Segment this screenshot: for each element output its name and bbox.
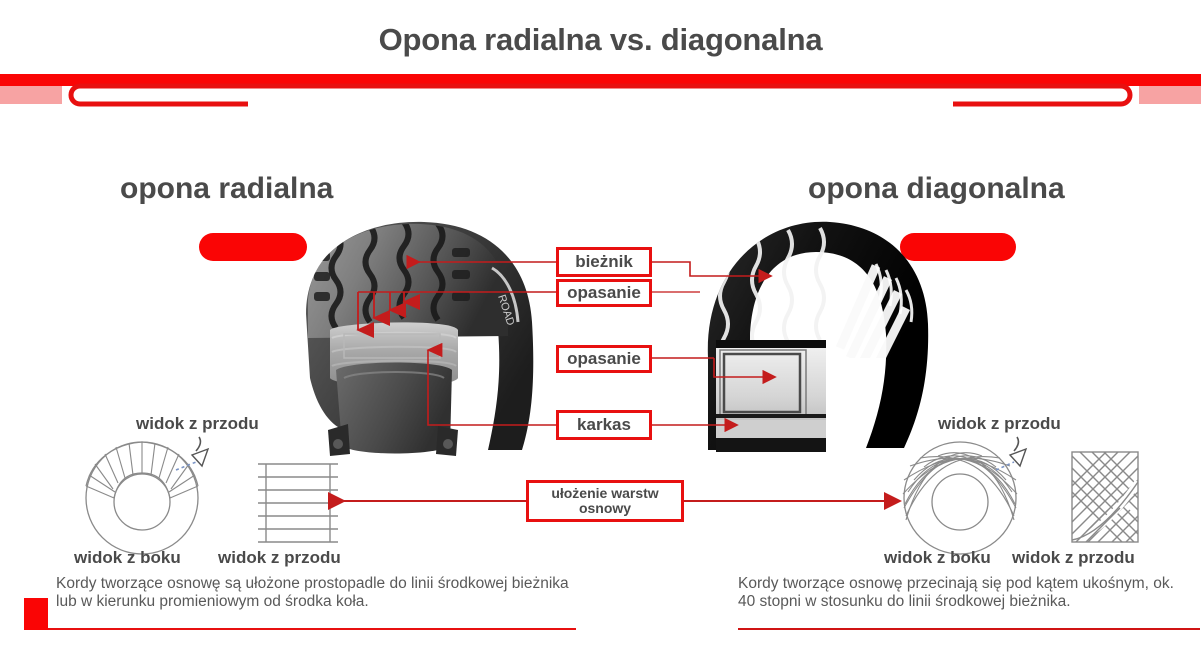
caption-right-side: widok z boku [884,548,991,568]
red-pill-left [199,233,307,261]
bottom-rule-left [24,628,576,630]
diagonal-side-view-diagram [890,440,1030,555]
caption-left-front-top: widok z przodu [136,414,259,434]
radial-side-view-diagram [72,440,212,555]
description-radial: Kordy tworzące osnowę są ułożone prostop… [56,575,576,612]
callout-karkas[interactable]: karkas [556,410,652,440]
radial-tire-illustration: ROAD [292,218,562,460]
bottom-rule-right [738,628,1200,630]
description-diagonal: Kordy tworzące osnowę przecinają się pod… [738,575,1188,612]
caption-left-side: widok z boku [74,548,181,568]
diagonal-front-view-diagram [1068,448,1142,546]
caption-right-front-bottom: widok z przodu [1012,548,1135,568]
slide-canvas: Opona radialna vs. diagonalna opona radi… [0,0,1201,666]
page-title: Opona radialna vs. diagonalna [0,22,1201,58]
header-decoration-bar [0,74,1201,114]
callout-ulozenie-warstw-osnowy[interactable]: ułożenie warstw osnowy [526,480,684,522]
diagonal-tire-illustration [690,208,955,460]
caption-left-front-bottom: widok z przodu [218,548,341,568]
radial-front-view-diagram [258,460,338,546]
heading-diagonal-tire: opona diagonalna [808,172,1065,206]
caption-right-front-top: widok z przodu [938,414,1061,434]
heading-radial-tire: opona radialna [120,172,333,206]
callout-opasanie-top[interactable]: opasanie [556,279,652,307]
bottom-red-block [24,598,48,630]
callout-opasanie-mid[interactable]: opasanie [556,345,652,373]
callout-bieznik[interactable]: bieżnik [556,247,652,277]
